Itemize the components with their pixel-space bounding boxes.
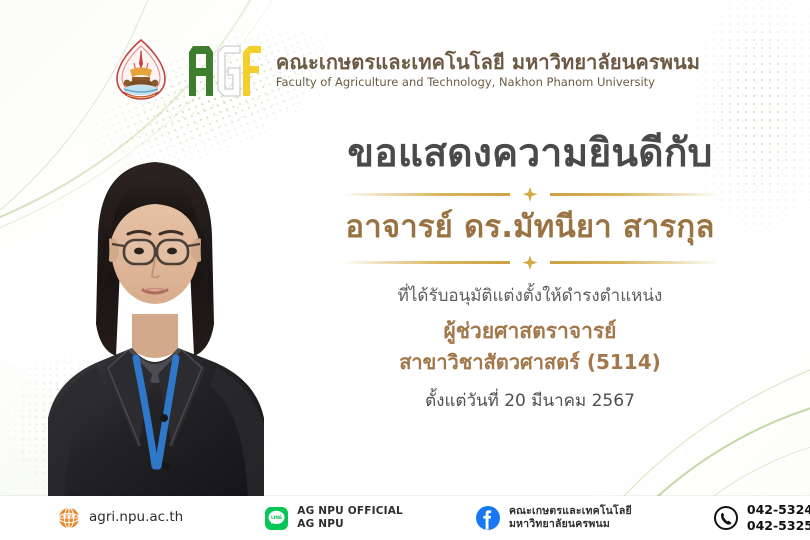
faculty-header: คณะเกษตรและเทคโนโลยี มหาวิทยาลัยนครพนม F… [0,34,810,106]
contact-website[interactable]: www agri.npu.ac.th [58,507,183,529]
line-app-icon: LINE [265,507,288,530]
facebook-icon [476,506,500,530]
academic-position: ผู้ช่วยศาสตราจารย์ [280,317,780,345]
contact-facebook[interactable]: คณะเกษตรและเทคโนโลยี มหาวิทยาลัยนครพนม [476,505,632,532]
divider-line-left [340,193,510,196]
ag-monogram-icon [185,42,263,98]
divider-line-right [550,193,720,196]
contact-line[interactable]: LINE AG NPU OFFICIAL AG NPU [265,505,403,532]
svg-text:www: www [63,514,76,519]
globe-icon: www [58,507,80,529]
divider-gem-icon [523,255,538,270]
phone-icon [714,506,738,530]
phone-number-2: 042-532545 [747,518,810,534]
npu-university-seal-icon [110,37,172,103]
divider-gem-icon [523,187,538,202]
congratulations-heading: ขอแสดงความยินดีกับ [280,130,780,179]
faculty-name-english: Faculty of Agriculture and Technology, N… [276,76,700,90]
divider-line-right [550,261,720,264]
academic-field: สาขาวิชาสัตวศาสตร์ (5114) [280,349,780,376]
divider-bottom [340,255,720,269]
line-account-official: AG NPU OFFICIAL [297,505,403,518]
faculty-name-thai: คณะเกษตรและเทคโนโลยี มหาวิทยาลัยนครพนม [276,51,700,74]
header-text-block: คณะเกษตรและเทคโนโลยี มหาวิทยาลัยนครพนม F… [276,51,700,90]
divider-top [340,187,720,201]
message-block: ขอแสดงความยินดีกับ อาจารย์ ดร.มัทนียา สา… [280,130,780,413]
facebook-name-line1: คณะเกษตรและเทคโนโลยี [509,505,632,518]
appointment-subline: ที่ได้รับอนุมัติแต่งตั้งให้ดำรงตำแหน่ง [280,285,780,308]
website-url: agri.npu.ac.th [89,509,183,526]
contact-footer: www agri.npu.ac.th LINE AG NPU OFFICIAL … [0,496,810,540]
svg-text:LINE: LINE [271,515,282,521]
congratulations-banner: คณะเกษตรและเทคโนโลยี มหาวิทยาลัยนครพนม F… [0,0,810,540]
contact-phone[interactable]: 042-532471 042-532545 [714,502,810,534]
line-account-personal: AG NPU [297,518,403,531]
divider-line-left [340,261,510,264]
phone-number-1: 042-532471 [747,502,810,518]
honoree-portrait [40,118,270,500]
effective-date: ตั้งแต่วันที่ 20 มีนาคม 2567 [280,390,780,413]
facebook-name-line2: มหาวิทยาลัยนครพนม [509,518,632,531]
honoree-name: อาจารย์ ดร.มัทนียา สารกุล [280,207,780,247]
